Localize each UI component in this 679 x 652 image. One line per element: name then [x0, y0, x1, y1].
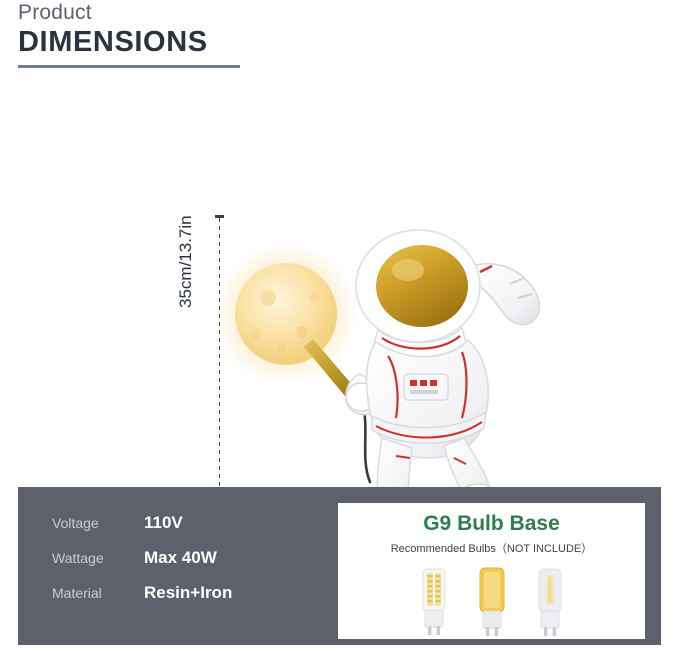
- spec-value: Resin+Iron: [144, 583, 232, 603]
- clear-glass-bulb-icon: [530, 567, 570, 637]
- bulb-card-subtitle: Recommended Bulbs（NOT INCLUDE）: [338, 540, 645, 556]
- spec-key: Material: [52, 585, 144, 601]
- led-chip-bulb-icon: [414, 567, 454, 637]
- header-block: Product DIMENSIONS: [18, 0, 240, 68]
- spec-key: Voltage: [52, 515, 144, 531]
- spec-list: Voltage 110V Wattage Max 40W Material Re…: [52, 513, 232, 618]
- spec-value: 110V: [144, 513, 183, 533]
- product-dimensions-infographic: Product DIMENSIONS 35cm/13.7in 20cm/7.8i…: [0, 0, 679, 652]
- dimension-diagram: 35cm/13.7in 20cm/7.8in: [0, 96, 679, 476]
- bulb-card-title: G9 Bulb Base: [338, 512, 645, 536]
- bulb-image-row: [338, 565, 645, 637]
- spec-value: Max 40W: [144, 548, 217, 568]
- frosted-cob-bulb-icon: [472, 567, 512, 637]
- spec-row: Wattage Max 40W: [52, 548, 232, 568]
- spec-key: Wattage: [52, 550, 144, 566]
- height-label: 35cm/13.7in: [176, 215, 196, 308]
- astronaut-lamp-image: [210, 206, 540, 516]
- bulb-base-card: G9 Bulb Base Recommended Bulbs（NOT INCLU…: [338, 503, 645, 639]
- page-title: DIMENSIONS: [18, 25, 240, 59]
- header-eyebrow: Product: [18, 0, 240, 26]
- title-underline: [18, 65, 240, 68]
- spec-row: Voltage 110V: [52, 513, 232, 533]
- spec-row: Material Resin+Iron: [52, 583, 232, 603]
